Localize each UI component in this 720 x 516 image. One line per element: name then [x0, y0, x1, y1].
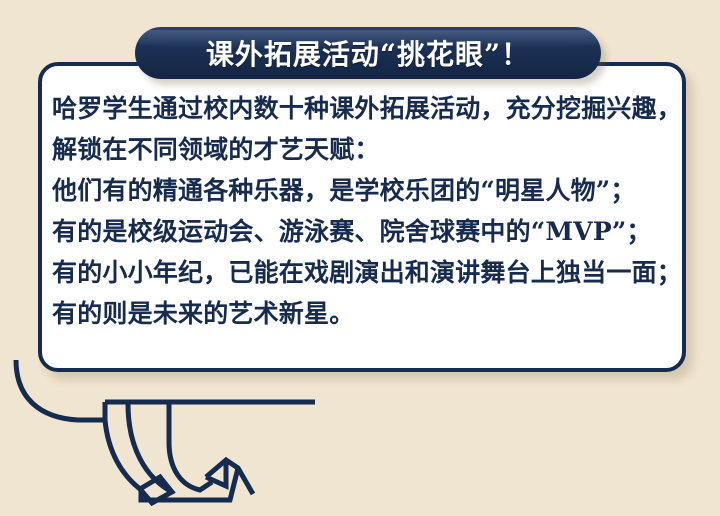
- tail-lower-curve-icon: [105, 420, 140, 489]
- arrow-head-top-icon: [206, 460, 253, 494]
- body-line: 哈罗学生通过校内数十种课外拓展活动，充分挖掘兴趣，: [52, 88, 676, 129]
- body-line: 有的是校级运动会、游泳赛、院舍球赛中的“MVP”；: [52, 211, 676, 252]
- body-line: 有的则是未来的艺术新星。: [52, 293, 676, 334]
- page-title: 课外拓展活动“挑花眼”！: [206, 33, 530, 73]
- body-text-block: 哈罗学生通过校内数十种课外拓展活动，充分挖掘兴趣， 解锁在不同领域的才艺天赋： …: [52, 88, 676, 334]
- arrow-head-fold-icon: [206, 460, 226, 486]
- arrow-head-body-icon: [141, 468, 238, 500]
- body-line: 有的小小年纪，已能在戏剧演出和演讲舞台上独当一面；: [52, 252, 676, 293]
- inner-hook-icon: [169, 442, 212, 490]
- middle-curve-icon: [128, 404, 172, 492]
- content-card: 哈罗学生通过校内数十种课外拓展活动，充分挖掘兴趣， 解锁在不同领域的才艺天赋： …: [38, 62, 686, 372]
- title-banner: 课外拓展活动“挑花眼”！: [135, 27, 601, 79]
- arrow-cuff-icon: [140, 477, 172, 503]
- body-line: 解锁在不同领域的才艺天赋：: [52, 129, 676, 170]
- poster-canvas: 哈罗学生通过校内数十种课外拓展活动，充分挖掘兴趣， 解锁在不同领域的才艺天赋： …: [0, 0, 720, 516]
- body-line: 他们有的精通各种乐器，是学校乐团的“明星人物”；: [52, 170, 676, 211]
